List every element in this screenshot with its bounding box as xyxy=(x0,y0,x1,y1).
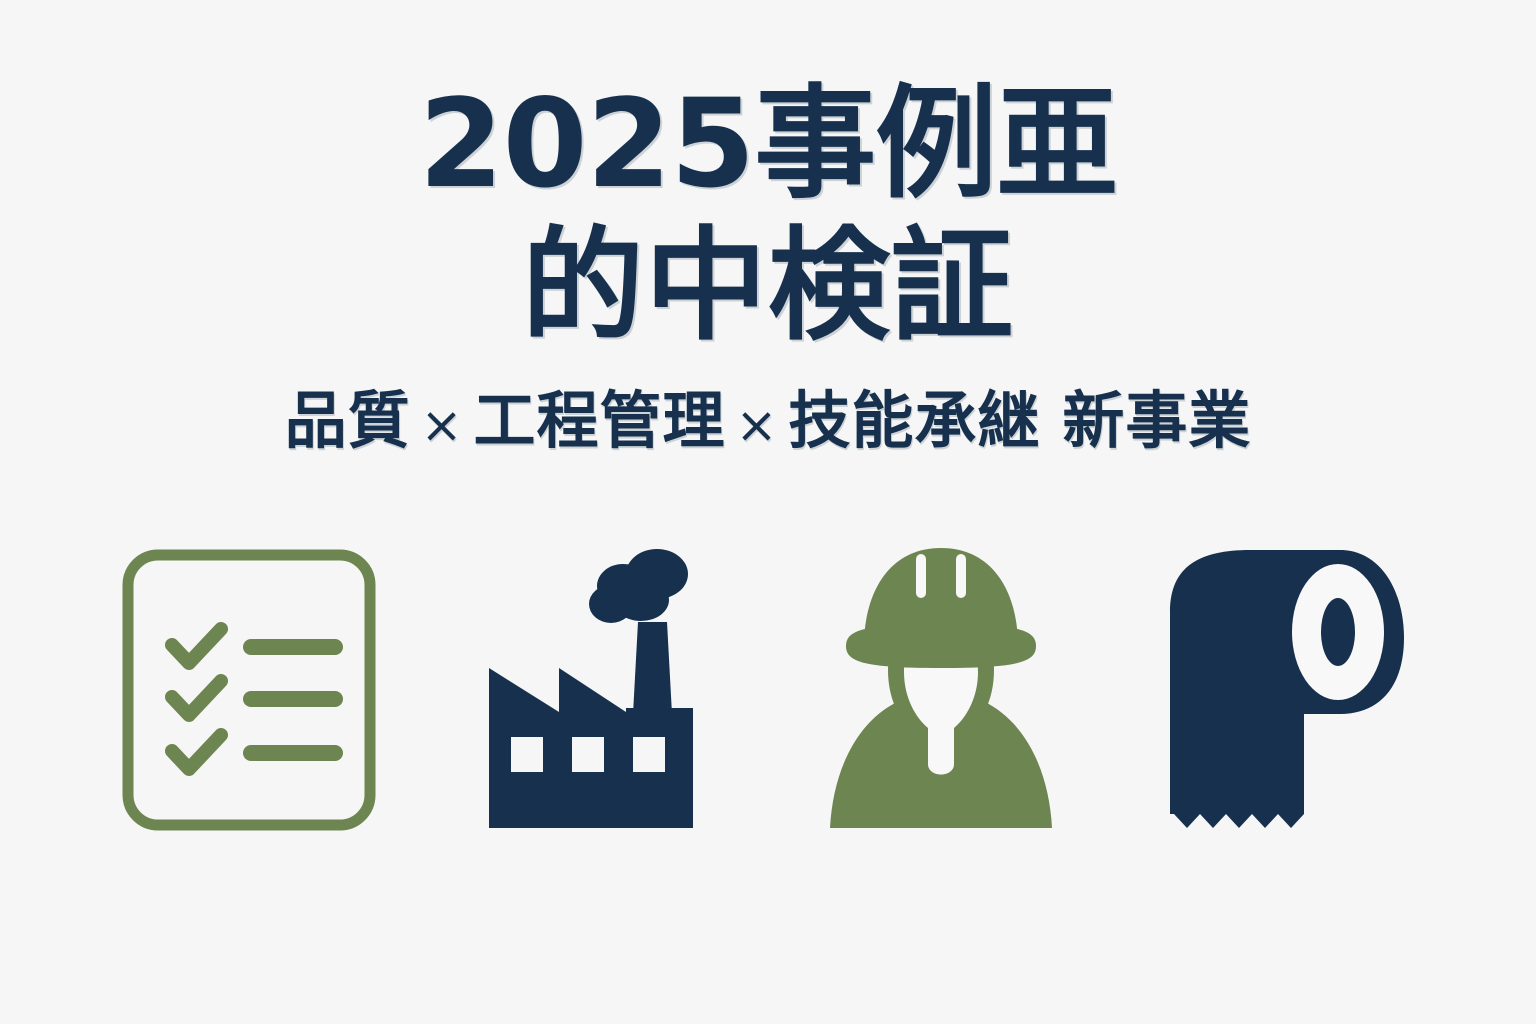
page-title: 2025事例亜 的中検証 xyxy=(0,74,1536,357)
icon-cell-checklist xyxy=(104,540,394,840)
icon-row xyxy=(0,530,1536,850)
subtitle: 品質×工程管理×技能承継新事業 xyxy=(285,387,1252,455)
toilet-paper-roll-icon xyxy=(1154,542,1420,838)
worker-helmet-icon xyxy=(816,542,1066,838)
subtitle-part-skill-succession: 技能承継 xyxy=(788,384,1040,457)
headline-line-2: 的中検証 xyxy=(0,216,1536,358)
icon-cell-worker xyxy=(796,540,1086,840)
subtitle-part-process-management: 工程管理 xyxy=(473,384,725,457)
subtitle-part-new-business: 新事業 xyxy=(1062,384,1251,457)
factory-icon xyxy=(471,542,719,838)
icon-cell-factory xyxy=(450,540,740,840)
subtitle-separator-1: × xyxy=(411,396,474,454)
icon-cell-toilet-paper xyxy=(1142,540,1432,840)
checklist-icon xyxy=(115,545,383,835)
subtitle-separator-2: × xyxy=(726,396,789,454)
headline-line-1: 2025事例亜 xyxy=(0,74,1536,216)
subtitle-part-quality: 品質 xyxy=(285,384,411,457)
poster-root: 2025事例亜 的中検証 品質×工程管理×技能承継新事業 xyxy=(0,0,1536,1024)
smoke-cloud xyxy=(589,549,688,623)
